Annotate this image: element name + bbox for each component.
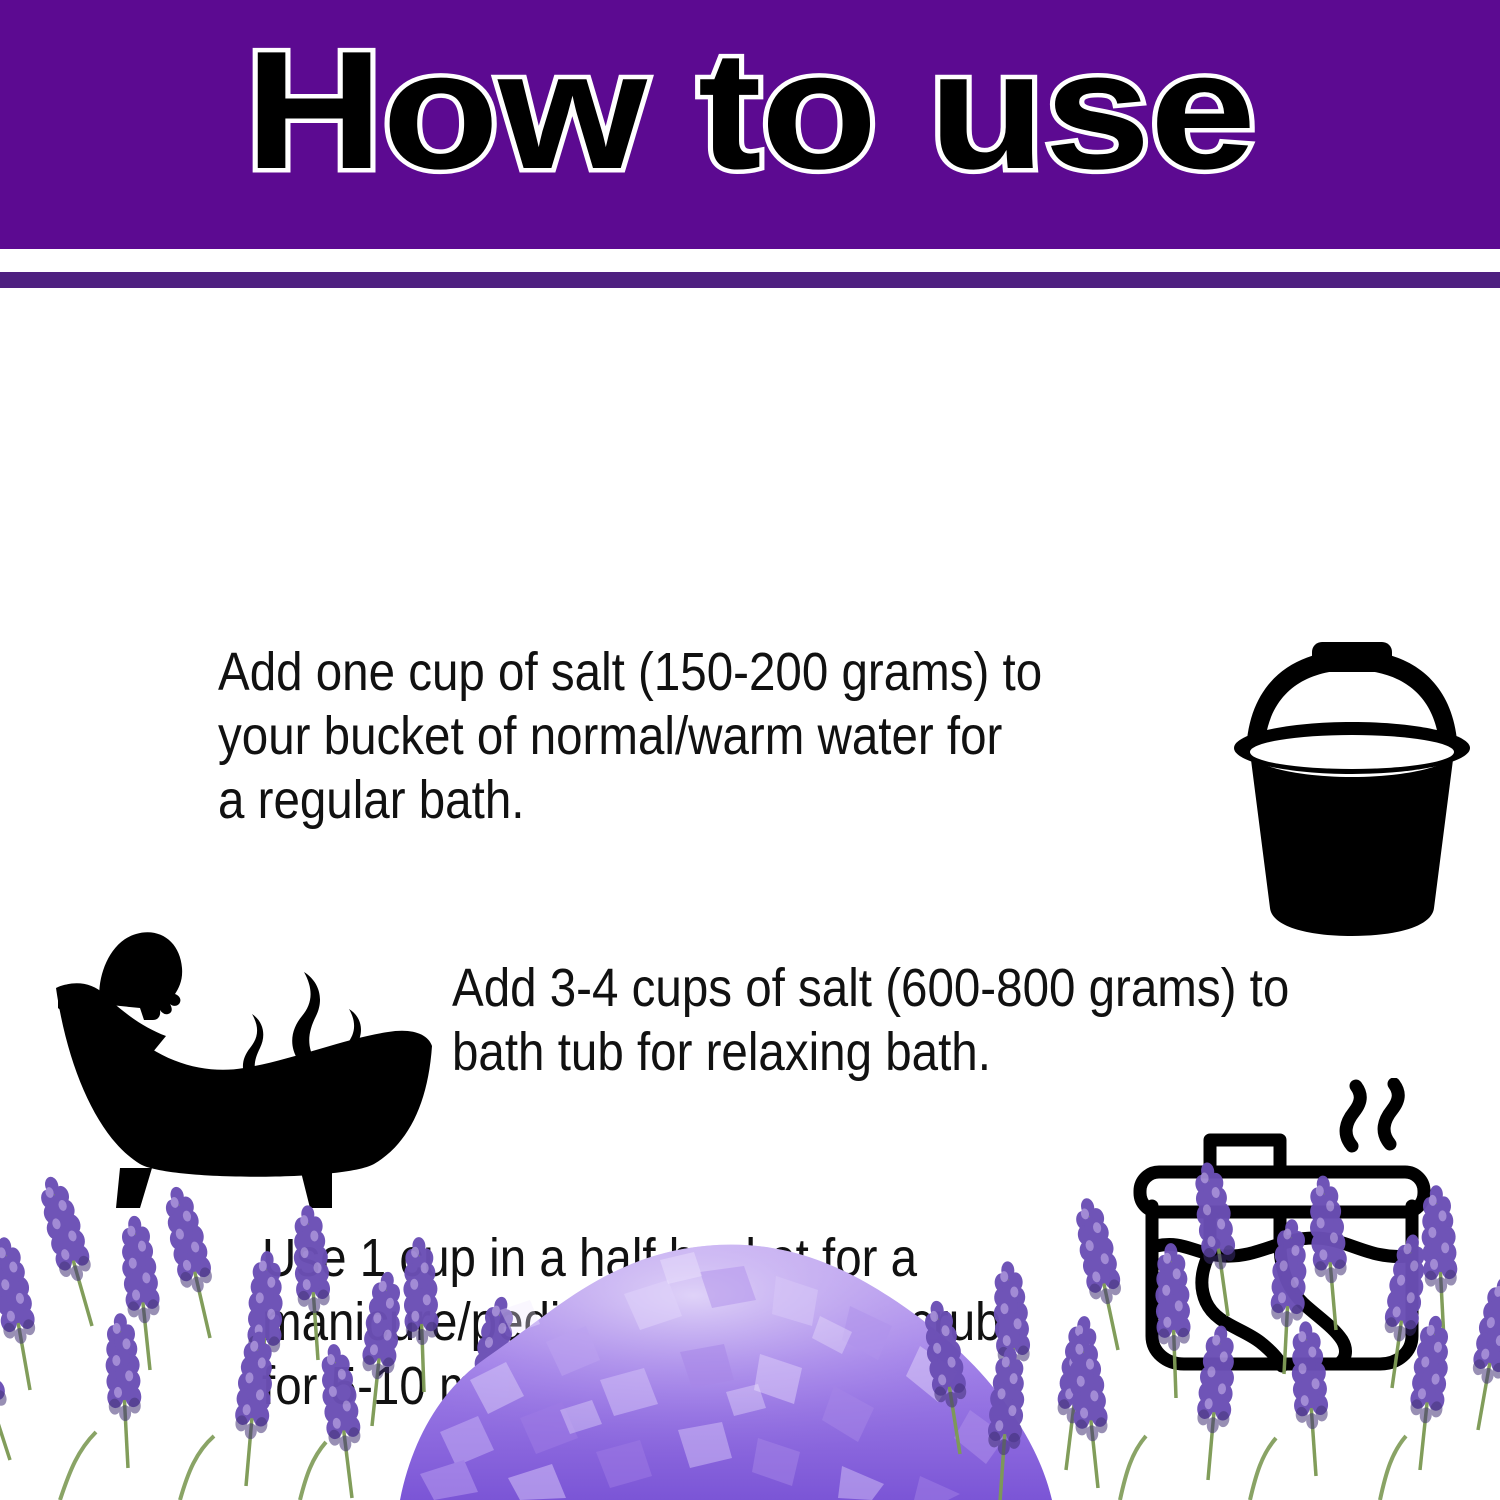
instruction-text-footsoak: Use 1 cup in a half bucket for a manicur… xyxy=(262,1226,1142,1418)
header-gap xyxy=(0,249,1500,272)
bucket-icon xyxy=(1228,640,1476,940)
how-to-use-infographic: How to use Add one cup of salt (150-200 … xyxy=(0,0,1500,1500)
bathtub-with-person-icon xyxy=(48,876,440,1208)
instruction-text-bucket: Add one cup of salt (150-200 grams) to y… xyxy=(218,640,1204,832)
page-title: How to use xyxy=(0,18,1500,202)
foot-soak-basin-icon xyxy=(1128,1078,1448,1378)
content-area: Add one cup of salt (150-200 grams) to y… xyxy=(0,288,1500,1500)
instruction-text-bathtub: Add 3-4 cups of salt (600-800 grams) to … xyxy=(452,956,1455,1084)
header-divider-rule xyxy=(0,272,1500,288)
